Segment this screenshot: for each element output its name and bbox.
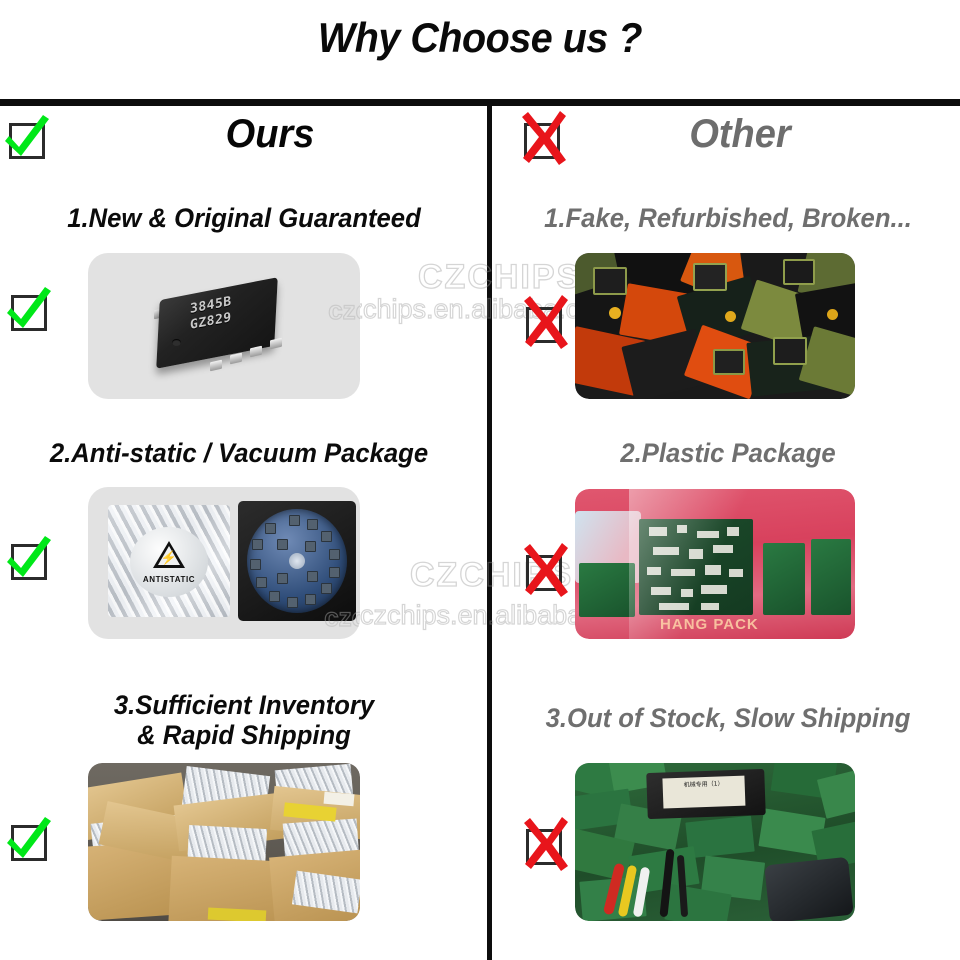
black-pad-illustration — [764, 857, 854, 921]
feature-label-other-1: 1.Fake, Refurbished, Broken... — [511, 203, 944, 233]
header-divider-horizontal — [0, 99, 960, 106]
cross-mark-glyph — [514, 108, 572, 166]
column-divider-vertical — [487, 106, 492, 960]
row-3-ours-check-icon — [6, 818, 50, 862]
scrap-chip-pile-illustration — [575, 253, 855, 399]
other-header-cross-icon — [519, 116, 563, 160]
feature-label-ours-3-line1: 3.Sufficient Inventory — [114, 690, 374, 720]
photo-scrap-chips — [575, 253, 855, 399]
row-3-other-cross-icon — [521, 822, 565, 866]
feature-label-ours-3-line2: & Rapid Shipping — [137, 720, 351, 750]
antistatic-bag-text: ANTISTATIC — [130, 575, 208, 584]
ours-header-check-icon — [4, 116, 48, 160]
column-header-other: Other — [598, 112, 883, 157]
pcb-scrap-illustration: 机械专用（1） — [575, 763, 855, 921]
photo-stock-boxes — [88, 763, 360, 921]
check-mark-glyph — [0, 108, 57, 166]
photo-pcb-scrap-pile: 机械专用（1） — [575, 763, 855, 921]
photo-plastic-package: HANG PACK — [575, 489, 855, 639]
feature-label-ours-3: 3.Sufficient Inventory & Rapid Shipping — [26, 690, 463, 750]
cross-mark-glyph — [516, 540, 574, 598]
stock-boxes-illustration — [88, 763, 360, 921]
feature-label-other-2: 2.Plastic Package — [511, 438, 944, 468]
check-mark-glyph — [1, 529, 59, 587]
ic-chip-illustration: 3845B GZ829 — [138, 273, 308, 373]
black-module-illustration: 机械专用（1） — [646, 769, 766, 819]
feature-label-ours-1: 1.New & Original Guaranteed — [26, 203, 463, 233]
cross-mark-glyph — [516, 814, 574, 872]
module-label-text: 机械专用（1） — [662, 776, 745, 809]
feature-label-ours-2: 2.Anti-static / Vacuum Package — [16, 438, 463, 468]
antistatic-bag-illustration: ⚡ ANTISTATIC — [108, 505, 230, 617]
feature-label-other-3: 3.Out of Stock, Slow Shipping — [510, 703, 947, 733]
watermark-brand-small-2: czch — [324, 602, 360, 633]
check-mark-glyph — [1, 280, 59, 338]
row-1-other-cross-icon — [521, 300, 565, 344]
page-title: Why Choose us ? — [29, 14, 931, 62]
column-header-ours: Ours — [128, 112, 413, 157]
check-mark-glyph — [1, 810, 59, 868]
bag-overlay-text: HANG PACK — [660, 616, 759, 633]
watermark-brand-small: czch — [328, 295, 360, 326]
cross-mark-glyph — [516, 292, 574, 350]
lightning-bolt-icon: ⚡ — [161, 551, 177, 564]
photo-new-original-chip: 3845B GZ829 czch — [88, 253, 360, 399]
row-2-other-cross-icon — [521, 548, 565, 592]
row-1-ours-check-icon — [6, 288, 50, 332]
why-choose-us-infographic: Why Choose us ? Ours Other CZCHIPS czchi… — [0, 0, 960, 960]
pink-bag-pcb-illustration: HANG PACK — [575, 489, 855, 639]
row-2-ours-check-icon — [6, 537, 50, 581]
photo-antistatic-bag-and-reel: ⚡ ANTISTATIC — [88, 487, 360, 639]
